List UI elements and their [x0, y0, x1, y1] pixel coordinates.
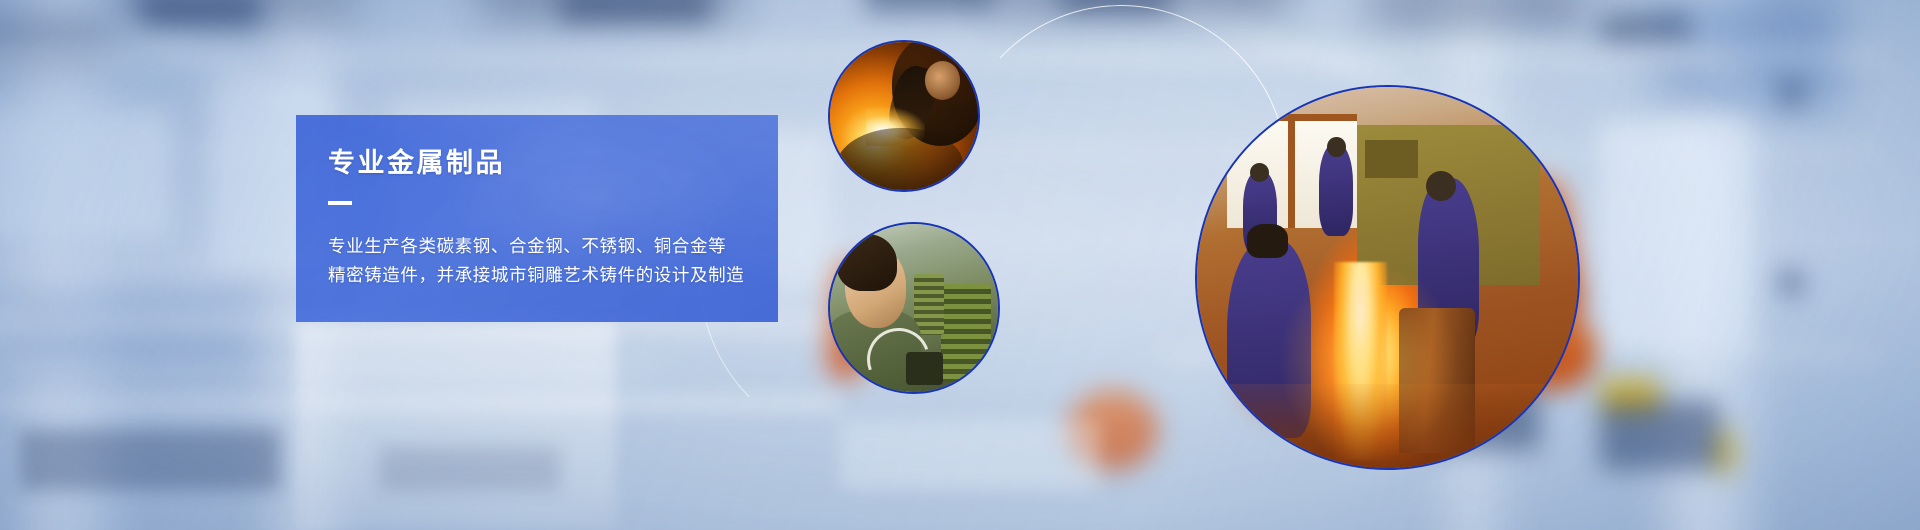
banner-stage: 专业金属制品 专业生产各类碳素钢、合金钢、不锈钢、铜合金等 精密铸造件，并承接城…	[0, 0, 1920, 530]
panel-description: 专业生产各类碳素钢、合金钢、不锈钢、铜合金等 精密铸造件，并承接城市铜雕艺术铸件…	[328, 232, 778, 290]
panel-title: 专业金属制品	[328, 149, 778, 179]
background-white-block	[296, 322, 616, 530]
welding-sparks-photo	[828, 40, 980, 192]
promo-panel: 专业金属制品 专业生产各类碳素钢、合金钢、不锈钢、铜合金等 精密铸造件，并承接城…	[296, 115, 778, 322]
title-divider	[328, 201, 352, 205]
description-line-1: 专业生产各类碳素钢、合金钢、不锈钢、铜合金等	[328, 232, 778, 261]
description-line-2: 精密铸造件，并承接城市铜雕艺术铸件的设计及制造	[328, 261, 778, 290]
foundry-pouring-photo	[1195, 85, 1580, 470]
assembly-worker-photo	[828, 222, 1000, 394]
